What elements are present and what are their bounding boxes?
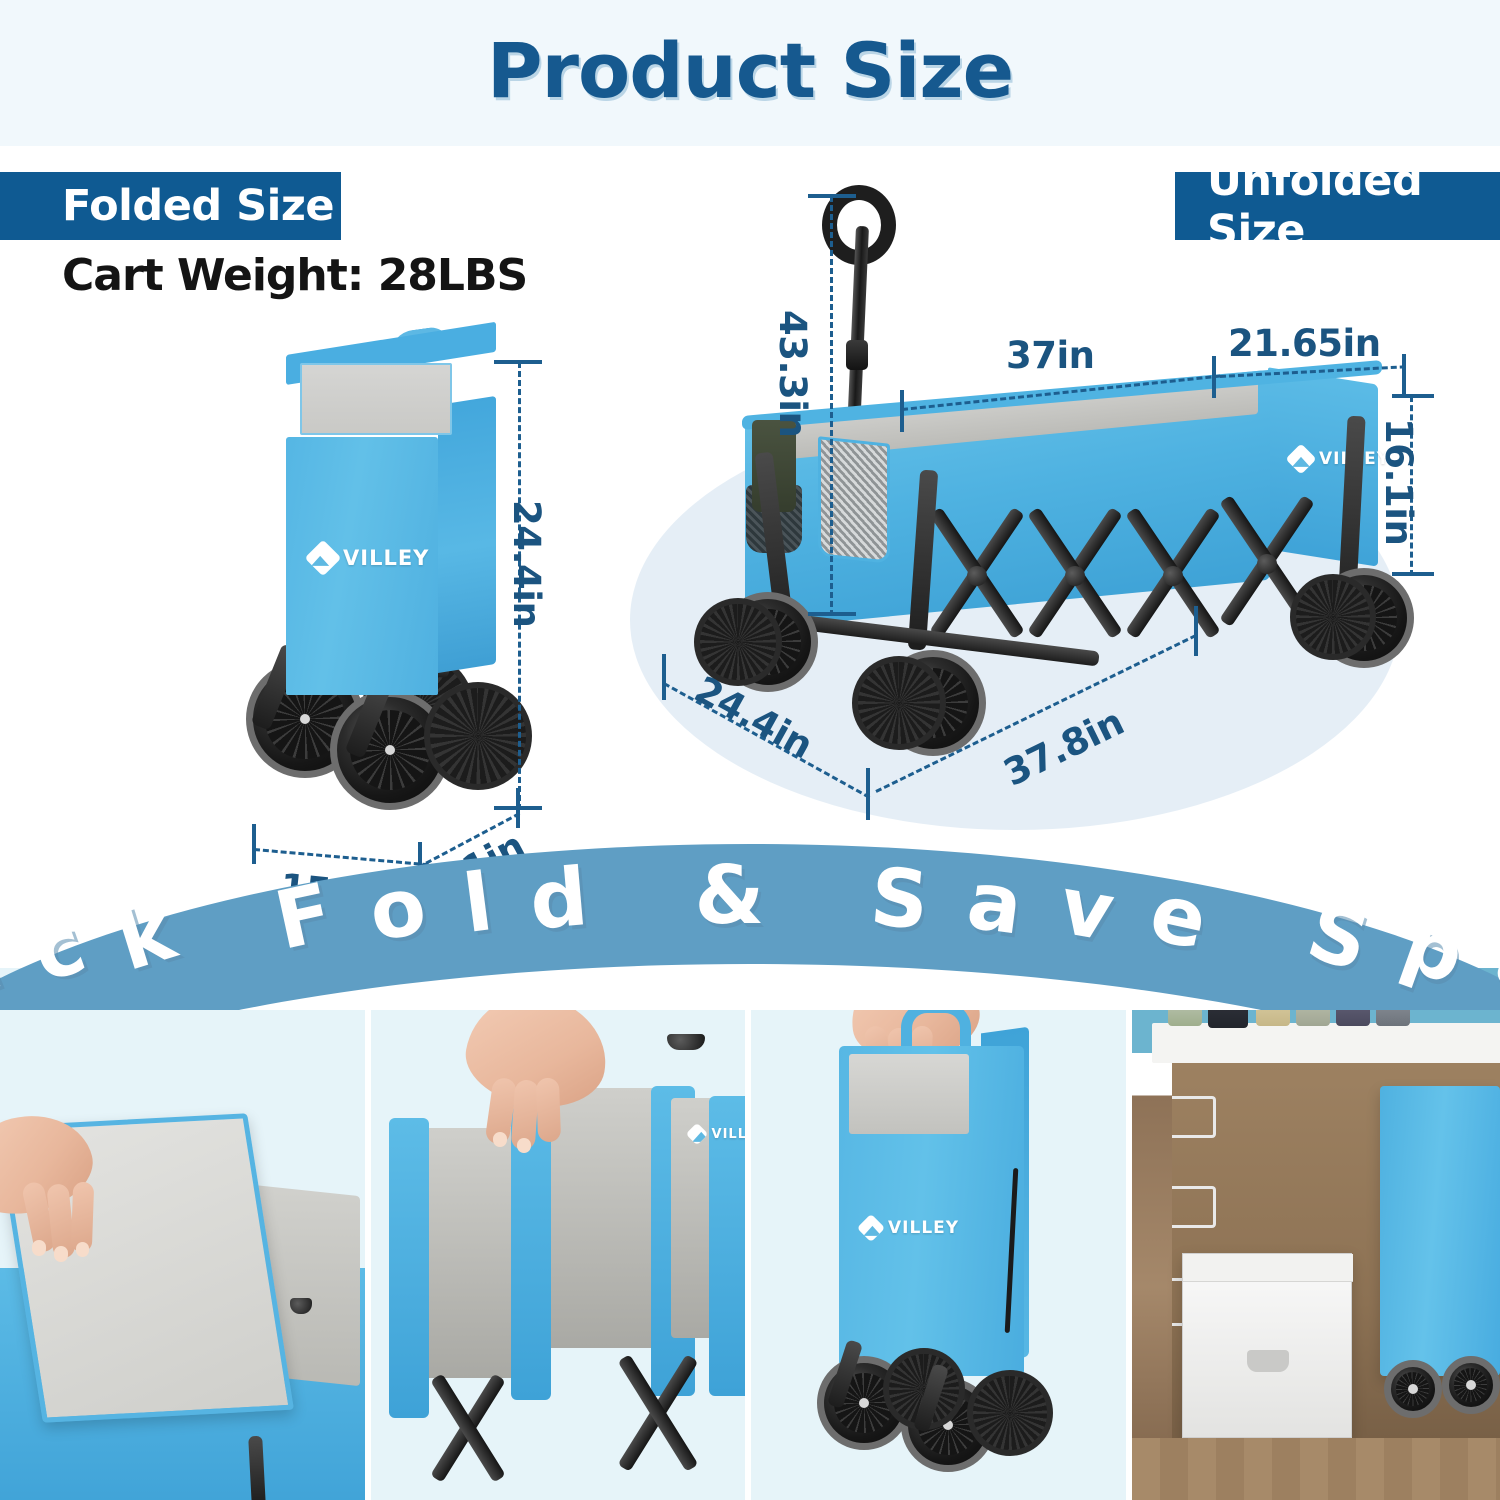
villey-diamond-icon xyxy=(305,540,342,577)
feature-panels: VILLEY VILLEY xyxy=(0,968,1500,1500)
dim-cap-tub-depth-bottom xyxy=(1392,572,1434,576)
villey-logo-text: VILLEY xyxy=(712,1127,745,1142)
folded-grey-flap xyxy=(300,363,452,435)
folded-tread-front xyxy=(424,682,532,790)
scissor-joint-1 xyxy=(967,566,987,586)
p2-fabric-left xyxy=(389,1118,429,1418)
p2-nail-2 xyxy=(517,1138,531,1153)
scissor-joint-2 xyxy=(1065,566,1085,586)
p1-nail-1 xyxy=(32,1240,46,1256)
p4-stored-cart xyxy=(1380,1086,1500,1376)
p4-cart-wheel-1 xyxy=(1384,1360,1442,1418)
folded-side-panel xyxy=(438,396,496,673)
unfolded-size-illustration: VILLEY xyxy=(620,170,1500,850)
p4-storage-box-lid xyxy=(1183,1254,1353,1282)
dim-label-tub-extension: 21.65in xyxy=(1228,322,1381,365)
unfolded-tread-front-center xyxy=(852,656,946,750)
p3-tread-1 xyxy=(967,1370,1053,1456)
dim-label-tub-depth: 16.1in xyxy=(1377,418,1420,545)
panel-store-cabinet xyxy=(1132,968,1500,1500)
p4-cart-wheel-2 xyxy=(1442,1356,1500,1414)
dim-label-tub-length: 37in xyxy=(1006,334,1095,377)
p4-wire-basket-2 xyxy=(1172,1186,1216,1228)
p2-finger-3 xyxy=(535,1078,560,1143)
page-title: Product Size xyxy=(0,26,1500,115)
p2-nail-1 xyxy=(493,1132,507,1147)
cart-mesh-pocket xyxy=(818,436,890,564)
dim-cap-base-width-right xyxy=(866,768,870,820)
dim-line-handle-height xyxy=(830,196,833,616)
folded-size-badge: Folded Size xyxy=(0,172,341,240)
p1-nail-2 xyxy=(54,1246,68,1262)
villey-logo-text: VILLEY xyxy=(343,546,429,570)
p4-storage-box-latch xyxy=(1247,1350,1289,1372)
dim-cap-handle-top xyxy=(808,194,856,198)
villey-logo-unfolded: VILLEY xyxy=(1290,448,1390,470)
dim-cap-tub-length-right xyxy=(1212,356,1216,398)
p2-cap-top xyxy=(667,1034,705,1050)
villey-logo-panel2: VILLEY xyxy=(689,1126,745,1142)
p3-grey-flap xyxy=(849,1054,969,1134)
villey-logo-panel3: VILLEY xyxy=(861,1218,959,1238)
handle-joint-upper xyxy=(846,340,868,370)
p1-nail-3 xyxy=(76,1242,89,1257)
villey-diamond-icon xyxy=(1285,443,1316,474)
panel-fold-liner xyxy=(0,968,365,1500)
wheel-spokes xyxy=(1454,1368,1487,1401)
unfolded-tread-rear-right xyxy=(1290,574,1376,660)
dim-cap-folded-depth-right xyxy=(516,788,520,828)
villey-logo-folded: VILLEY xyxy=(310,545,429,571)
quick-fold-banner: Quick Fold & Save Space xyxy=(0,838,1500,1010)
scissor-joint-3 xyxy=(1163,566,1183,586)
p4-countertop xyxy=(1152,1023,1500,1063)
unfolded-cart-body: VILLEY xyxy=(670,180,1460,800)
wheel-spokes xyxy=(1396,1372,1429,1405)
dim-label-folded-height: 24.4in xyxy=(505,500,548,627)
p4-floor xyxy=(1132,1438,1500,1500)
villey-diamond-icon xyxy=(685,1123,708,1146)
dim-cap-tub-length-left xyxy=(900,390,904,432)
villey-logo-text: VILLEY xyxy=(888,1218,959,1238)
dim-label-handle-height: 43.3in xyxy=(771,310,814,437)
panel-collapse-frame: VILLEY xyxy=(371,968,745,1500)
panel-carry-handle: VILLEY xyxy=(751,968,1125,1500)
folded-size-illustration: VILLEY 24.4in 15.7in 11in xyxy=(0,300,640,840)
p4-wire-basket-1 xyxy=(1172,1096,1216,1138)
scissor-joint-4 xyxy=(1257,554,1277,574)
dim-cap-base-width-left xyxy=(662,654,666,700)
villey-diamond-icon xyxy=(857,1214,885,1242)
cart-weight-label: Cart Weight: 28LBS xyxy=(62,250,527,301)
dim-cap-tub-depth-top xyxy=(1392,394,1434,398)
dim-cap-tub-ext-right xyxy=(1402,354,1406,396)
folded-cart-body: VILLEY xyxy=(286,345,506,675)
p4-storage-box xyxy=(1182,1253,1352,1438)
dim-cap-folded-height-top xyxy=(494,360,542,364)
dim-cap-handle-bottom xyxy=(808,612,856,616)
dim-cap-base-length-right xyxy=(1194,606,1198,656)
